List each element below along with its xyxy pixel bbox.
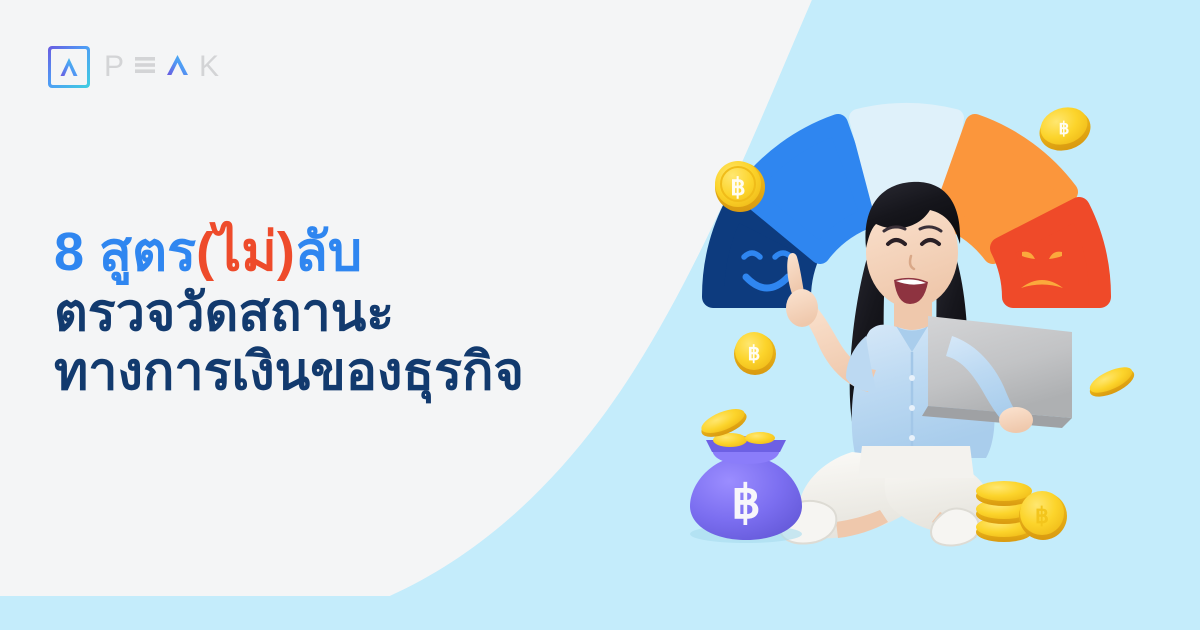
logo-letter-e — [134, 53, 156, 82]
peak-chevron-logo-icon — [48, 46, 90, 88]
headline-line1-prefix: 8 สูตร — [54, 222, 196, 282]
page-title: 8 สูตร(ไม่)ลับ ตรวจวัดสถานะ ทางการเงินขอ… — [54, 222, 574, 402]
logo-letter-k: K — [199, 52, 220, 82]
logo-letter-a-icon — [165, 52, 190, 78]
headline-line1-accent: (ไม่) — [196, 222, 295, 282]
logo-letter-a — [165, 52, 190, 83]
logo-letter-e-icon — [134, 53, 156, 77]
headline-line-2: ตรวจวัดสถานะ — [54, 284, 574, 343]
chevron-a-icon — [56, 54, 82, 80]
headline-line-1: 8 สูตร(ไม่)ลับ — [54, 222, 574, 284]
headline-line1-suffix: ลับ — [295, 222, 362, 282]
logo-letter-p: P — [104, 52, 125, 82]
social-banner: P — [0, 0, 1200, 630]
headline-line-3: ทางการเงินของธุรกิจ — [54, 343, 574, 402]
brand-wordmark: P — [104, 50, 220, 84]
brand-logo[interactable]: P — [48, 46, 220, 88]
